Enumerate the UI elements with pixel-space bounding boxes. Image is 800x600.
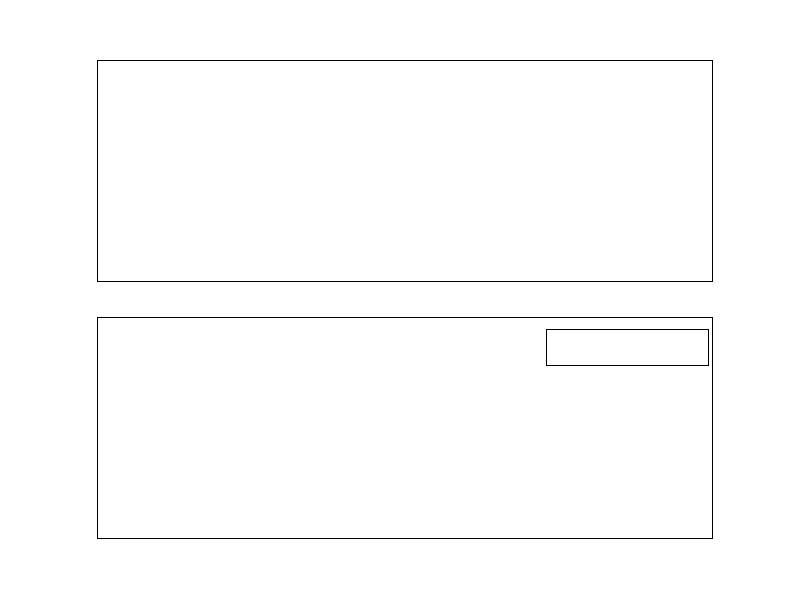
differential-histogram-svg — [98, 61, 712, 281]
mag-limit-legend-line-icon — [555, 342, 595, 354]
bottom-x-tick-labels — [97, 539, 713, 563]
legend-box — [546, 329, 709, 366]
bottom-y-tick-labels — [0, 317, 86, 539]
top-x-tick-labels — [97, 282, 713, 306]
differential-histogram-plot — [97, 60, 713, 282]
top-y-tick-labels — [0, 60, 86, 282]
figure-canvas — [0, 0, 800, 600]
